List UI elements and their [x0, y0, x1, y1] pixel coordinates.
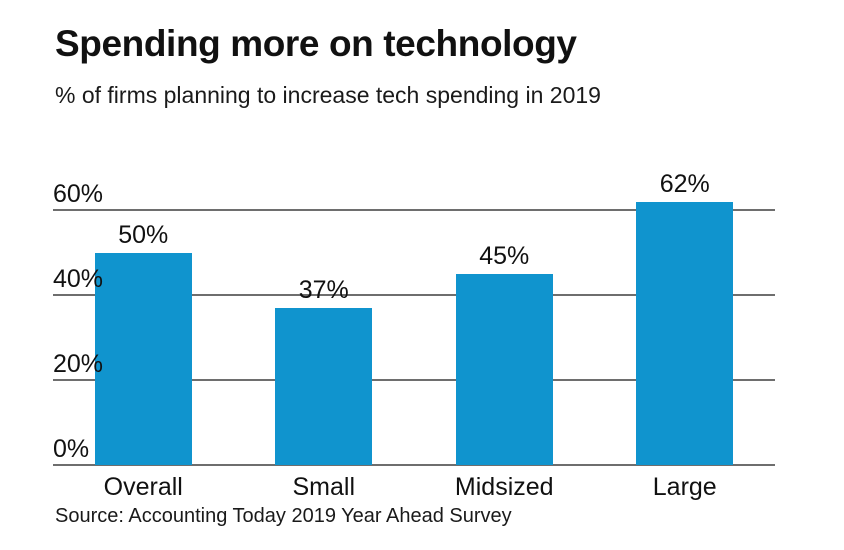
chart-title: Spending more on technology: [55, 22, 577, 66]
x-axis-category-label: Large: [595, 472, 775, 502]
plot-area: [53, 210, 775, 465]
chart-figure: Spending more on technology % of firms p…: [0, 0, 844, 550]
x-axis-category-label: Overall: [53, 472, 233, 502]
bar-midsized[interactable]: [456, 274, 553, 465]
x-axis-category-label: Small: [234, 472, 414, 502]
source-note: Source: Accounting Today 2019 Year Ahead…: [55, 503, 512, 529]
bar-overall[interactable]: [95, 253, 192, 466]
x-axis-category-label: Midsized: [414, 472, 594, 502]
bar-large[interactable]: [636, 202, 733, 466]
bars-layer: [53, 210, 775, 465]
bar-small[interactable]: [275, 308, 372, 465]
bar-value-label: 62%: [625, 170, 745, 198]
y-axis-tick-label: 60%: [53, 180, 103, 208]
chart-subtitle: % of firms planning to increase tech spe…: [55, 80, 601, 110]
